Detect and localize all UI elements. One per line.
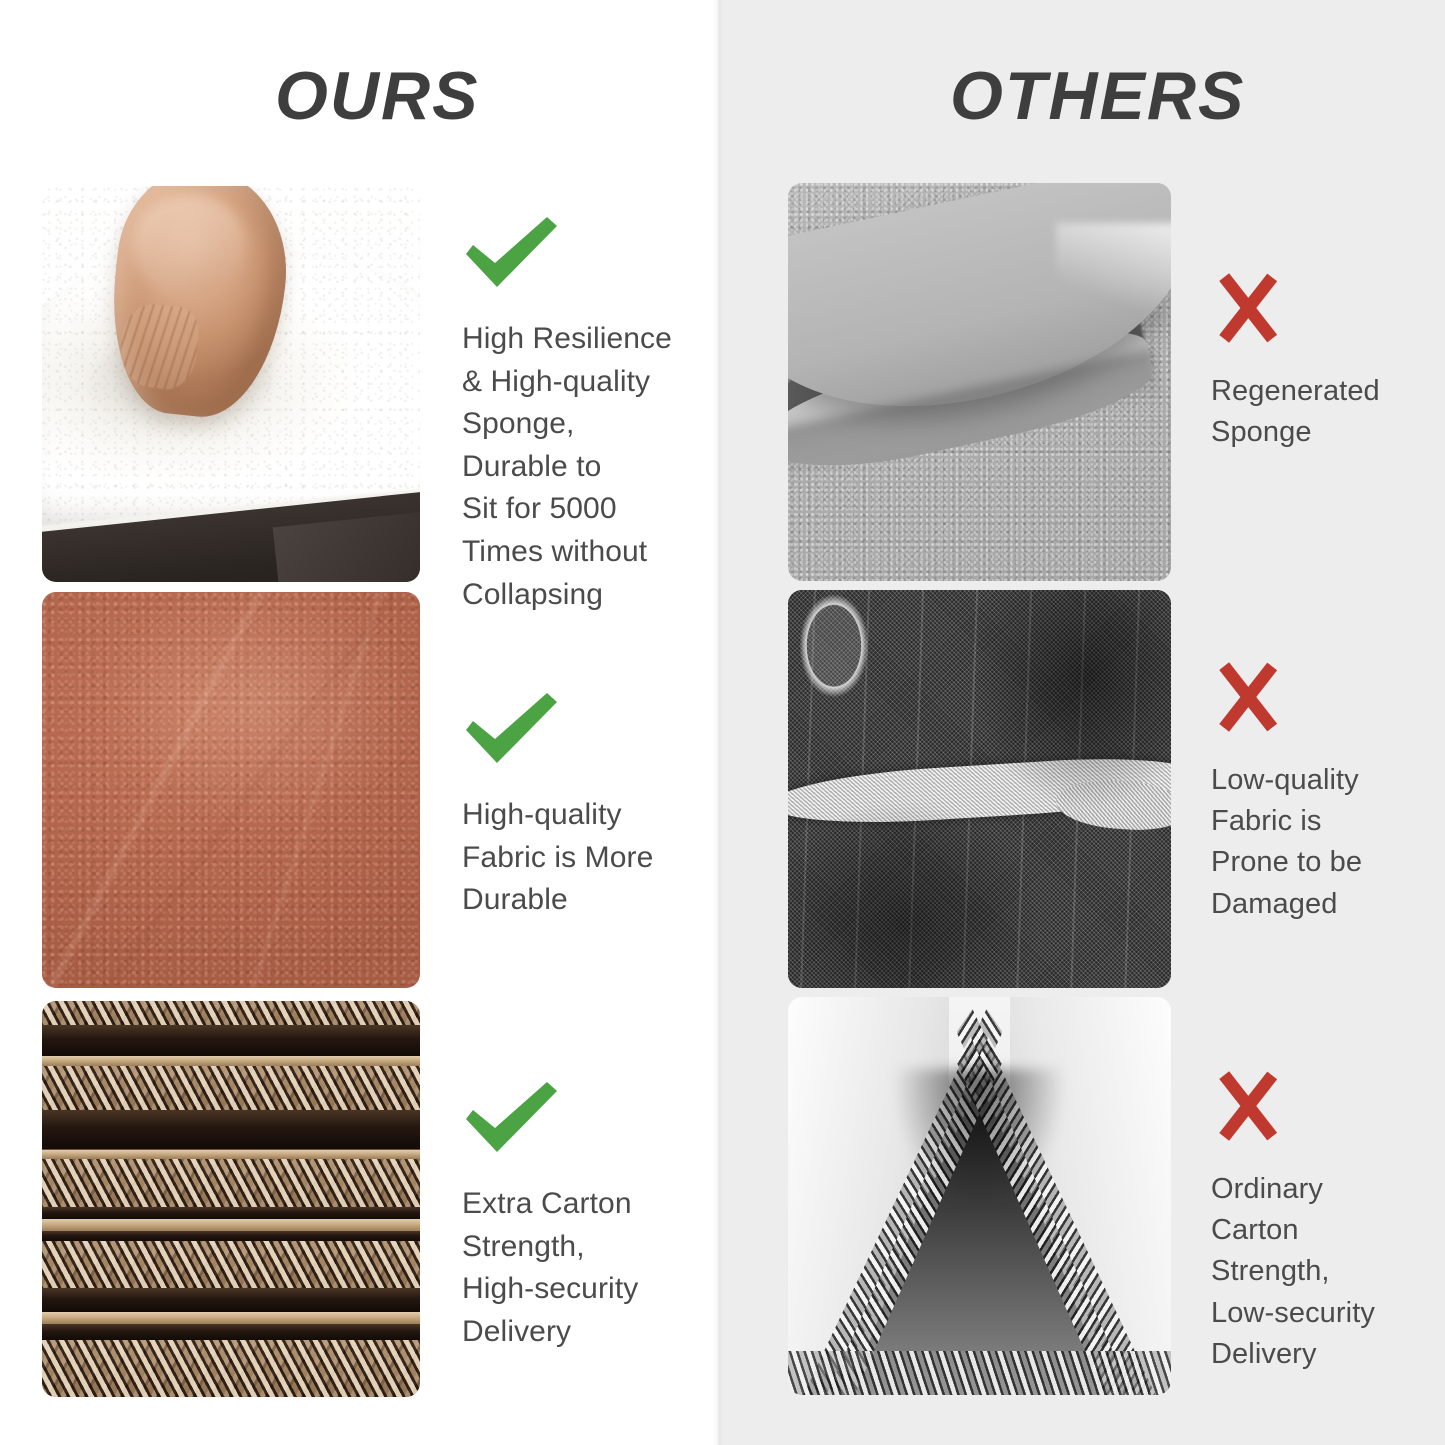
- others-callout-2: Low-quality Fabric is Prone to be Damage…: [1171, 590, 1438, 925]
- cracked-low-quality-fabric-photo: [788, 590, 1171, 988]
- column-divider: [712, 0, 723, 1445]
- others-feature-row-2: Low-quality Fabric is Prone to be Damage…: [788, 590, 1438, 988]
- ours-callout-2-text: High-quality Fabric is More Durable: [462, 794, 712, 922]
- ours-callout-3: Extra Carton Strength, High-security Del…: [420, 1001, 712, 1353]
- others-callout-3-text: Ordinary Carton Strength, Low-security D…: [1211, 1169, 1438, 1375]
- ordinary-folded-carton-photo: [788, 997, 1171, 1395]
- hand-pressing-white-foam-photo: [42, 186, 420, 582]
- ours-feature-row-1: High Resilience & High-quality Sponge, D…: [42, 186, 712, 616]
- red-cross-icon: [1211, 660, 1285, 734]
- gray-regenerated-sponge-photo: [788, 183, 1171, 581]
- green-check-icon: [462, 214, 562, 292]
- corrugated-cardboard-layers-photo: [42, 1001, 420, 1397]
- ours-callout-3-text: Extra Carton Strength, High-security Del…: [462, 1183, 712, 1353]
- ours-heading: OURS: [275, 57, 479, 135]
- red-cross-icon: [1211, 271, 1285, 345]
- red-cross-icon: [1211, 1069, 1285, 1143]
- green-check-icon: [462, 690, 562, 768]
- ours-callout-1: High Resilience & High-quality Sponge, D…: [420, 186, 712, 616]
- others-feature-row-1: Regenerated Sponge: [788, 183, 1438, 581]
- others-feature-row-3: Ordinary Carton Strength, Low-security D…: [788, 997, 1438, 1395]
- green-check-icon: [462, 1079, 562, 1157]
- others-callout-2-text: Low-quality Fabric is Prone to be Damage…: [1211, 760, 1438, 925]
- brown-leather-fabric-photo: [42, 592, 420, 988]
- others-callout-1: Regenerated Sponge: [1171, 183, 1438, 453]
- ours-callout-2: High-quality Fabric is More Durable: [420, 592, 712, 922]
- ours-feature-row-3: Extra Carton Strength, High-security Del…: [42, 1001, 712, 1397]
- others-callout-1-text: Regenerated Sponge: [1211, 371, 1438, 453]
- others-callout-3: Ordinary Carton Strength, Low-security D…: [1171, 997, 1438, 1375]
- others-heading: OTHERS: [950, 57, 1245, 135]
- ours-callout-1-text: High Resilience & High-quality Sponge, D…: [462, 318, 712, 616]
- ours-feature-row-2: High-quality Fabric is More Durable: [42, 592, 712, 988]
- comparison-infographic: OURS OTHERS High Resilience & High-quali…: [0, 0, 1445, 1445]
